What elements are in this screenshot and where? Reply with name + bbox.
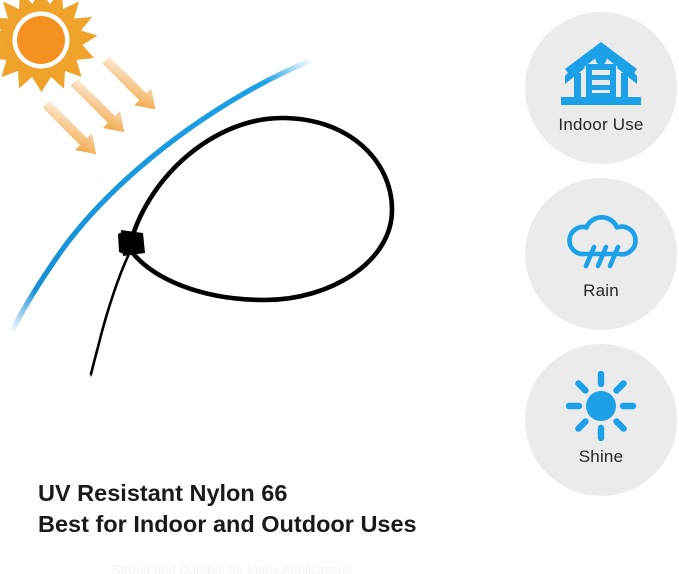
feature-badge-rain[interactable]: Rain <box>525 178 677 330</box>
caption-line-2: Best for Indoor and Outdoor Uses <box>38 509 508 540</box>
cable-tie-head <box>118 230 145 256</box>
rain-cloud-icon <box>558 204 644 276</box>
house-icon <box>558 38 644 110</box>
caption-line-1: UV Resistant Nylon 66 <box>38 478 508 509</box>
feature-badge-shine[interactable]: Shine <box>525 344 677 496</box>
caption-clipped-text: Strong and Durable for Many Applications <box>112 563 442 574</box>
cable-tie <box>91 118 392 376</box>
caption-block: UV Resistant Nylon 66 Best for Indoor an… <box>38 478 508 540</box>
feature-label: Rain <box>583 282 619 299</box>
uv-resistance-illustration <box>0 0 470 400</box>
feature-label: Shine <box>579 448 623 465</box>
uv-shield-arc <box>11 60 312 333</box>
sun-shine-icon <box>558 370 644 442</box>
product-feature-graphic: Indoor Use Rain <box>0 0 679 574</box>
feature-badge-column: Indoor Use Rain <box>525 12 677 496</box>
caption-clipped-line: Strong and Durable for Many Applications <box>112 563 442 574</box>
feature-badge-indoor-use[interactable]: Indoor Use <box>525 12 677 164</box>
uv-ray-arrow-3 <box>98 52 164 118</box>
sun-icon <box>0 0 98 92</box>
feature-label: Indoor Use <box>558 116 643 133</box>
